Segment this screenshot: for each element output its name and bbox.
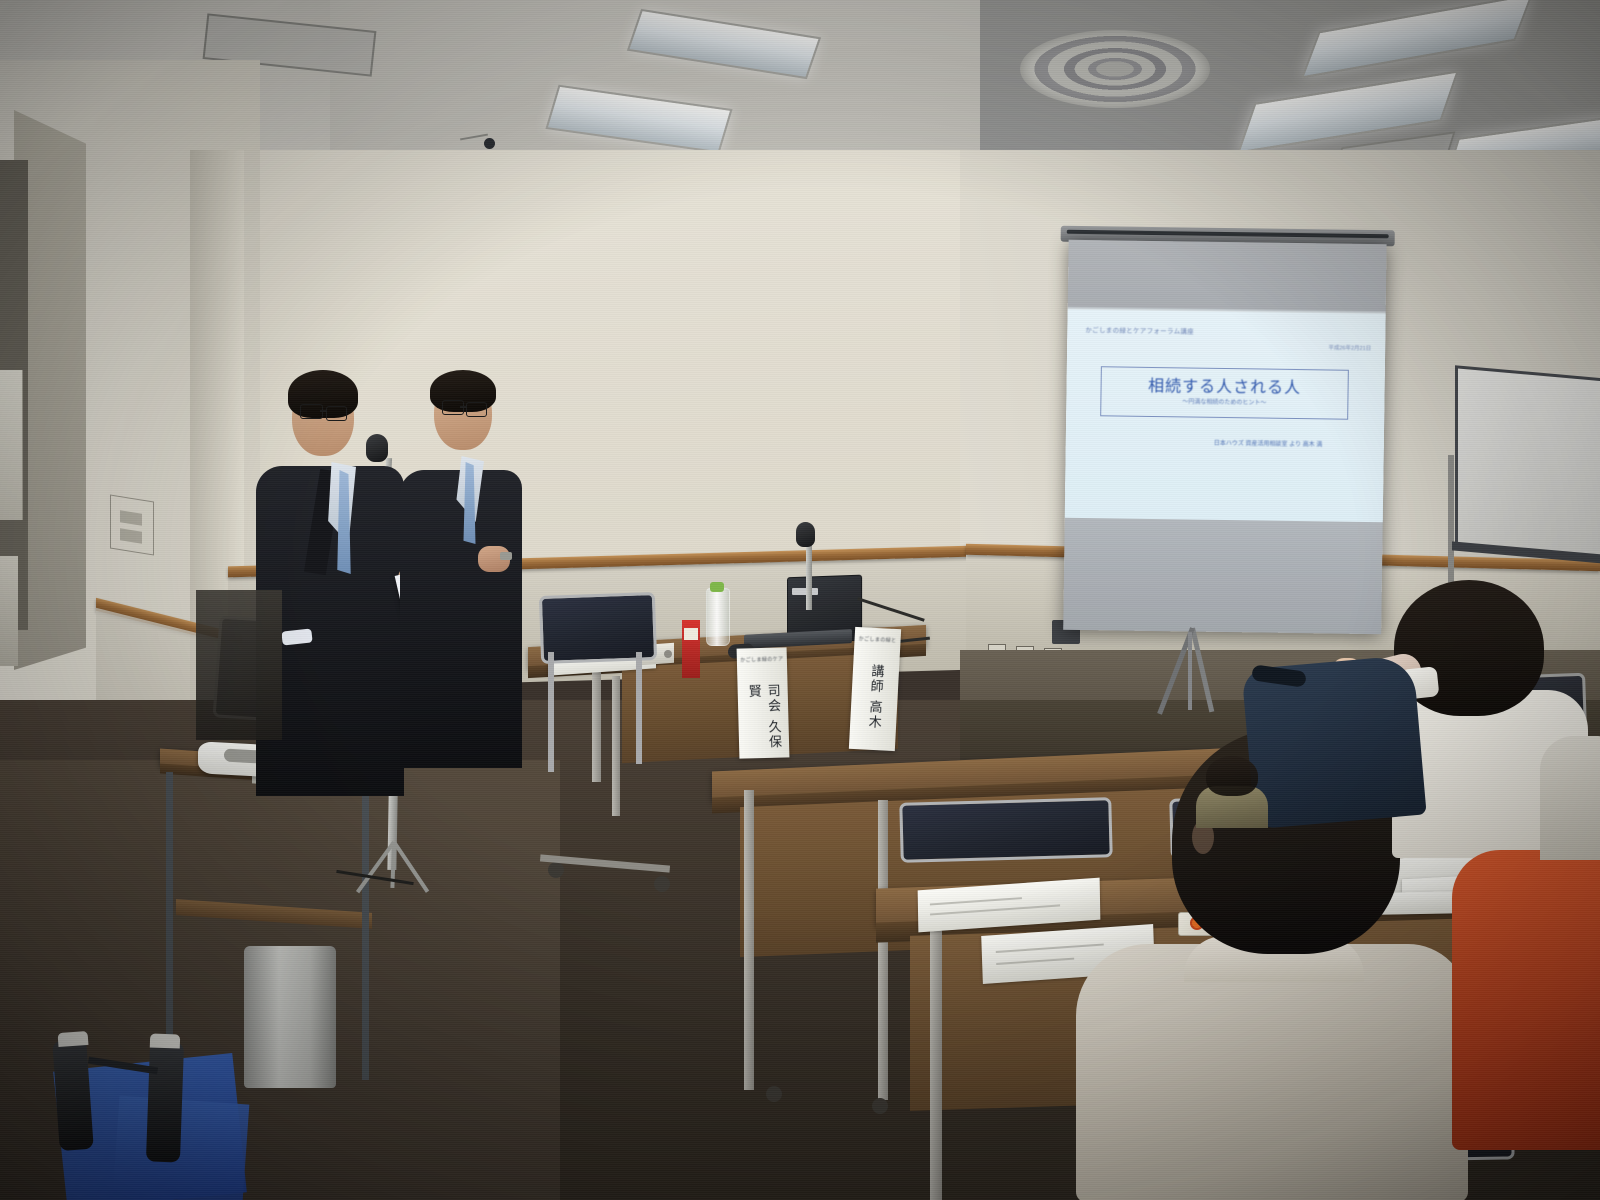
waste-bin[interactable] <box>244 946 336 1088</box>
wall-notice-frame-2 <box>0 556 18 666</box>
placard-left-heading: かごしま緑のケア <box>740 655 783 663</box>
presenter-table-device-knob[interactable] <box>664 650 672 658</box>
placard-left-text: 司会 久保 賢 <box>744 684 784 759</box>
side-table-leg-right <box>362 780 369 1080</box>
placard-right-heading: かごしまの緑と <box>859 635 897 644</box>
photo-scene: かごしまの緑とケアフォーラム講座 平成26年2月21日 相続する人される人 ～円… <box>0 0 1600 1200</box>
whiteboard[interactable] <box>1455 365 1600 562</box>
water-bottle[interactable] <box>706 588 730 646</box>
placard-right: かごしまの緑と 講師 高木 <box>849 627 901 751</box>
audience-table-upper-leg-2 <box>878 800 888 1100</box>
audience-chair-1[interactable] <box>899 797 1112 863</box>
attendee-orange-shoulder <box>1540 736 1600 860</box>
ceiling-air-diffuser-icon <box>1020 30 1210 108</box>
wheelchair-grip-cap-right <box>150 1033 180 1048</box>
table-mic-head[interactable] <box>796 522 815 547</box>
chair-presenter-leg-2 <box>636 652 642 764</box>
wheelchair-grip-cap-left <box>58 1031 89 1047</box>
screen-tripod-post <box>1188 632 1192 710</box>
placard-right-text: 講師 高木 <box>863 664 885 731</box>
slide-title: 相続する人される人 <box>1101 371 1347 398</box>
laptop-logo <box>792 588 818 595</box>
speaker-back-body <box>400 470 522 768</box>
speaker-front-glasses-right <box>326 406 347 421</box>
table-mic-stand <box>806 544 812 610</box>
presenter-table-caster <box>548 862 564 878</box>
projected-slide: かごしまの緑とケアフォーラム講座 平成26年2月21日 相続する人される人 ～円… <box>1065 310 1386 522</box>
ceiling-sensor-icon <box>484 138 495 149</box>
red-box-label <box>684 628 698 640</box>
presenter-table-caster-2 <box>654 876 670 892</box>
speaker-back-glasses-bridge <box>460 406 467 408</box>
wall-notice-frame <box>0 370 23 520</box>
presenter-table-leg-right <box>612 676 620 816</box>
attendee-orange-body <box>1452 850 1600 1150</box>
wall-switch-plate[interactable] <box>110 495 154 556</box>
placard-left: かごしま緑のケア 司会 久保 賢 <box>737 647 790 758</box>
chair-presenter-leg <box>548 652 554 772</box>
floor-mic-head[interactable] <box>366 434 388 462</box>
slide-kicker: かごしまの緑とケアフォーラム講座 <box>1085 324 1194 336</box>
projector-screen[interactable]: かごしまの緑とケアフォーラム講座 平成26年2月21日 相続する人される人 ～円… <box>1055 226 1395 635</box>
audience-table-upper-caster-2 <box>872 1098 888 1114</box>
presenter-table-leg-left <box>592 664 601 782</box>
attendee-far-1-hair <box>1206 756 1258 796</box>
audience-table-lower-leg <box>930 928 942 1200</box>
wheelchair-grip-right[interactable] <box>146 1041 184 1162</box>
slide-date: 平成26年2月21日 <box>1328 343 1371 352</box>
left-cabinet <box>196 590 282 740</box>
audience-table-upper-caster <box>766 1086 782 1102</box>
speaker-back-glasses-right <box>466 402 487 417</box>
bottle-cap[interactable] <box>710 582 724 592</box>
audience-table-upper-leg-1 <box>744 790 754 1090</box>
speaker-back-watch <box>500 552 512 560</box>
slide-byline: 日本ハウズ 資産活用相談室 より 高木 満 <box>1214 440 1323 451</box>
speaker-front-glasses-bridge <box>320 410 327 412</box>
slide-title-frame: 相続する人される人 ～円満な相続のためのヒント～ <box>1100 366 1349 419</box>
attendee-center-jacket <box>1076 944 1468 1200</box>
